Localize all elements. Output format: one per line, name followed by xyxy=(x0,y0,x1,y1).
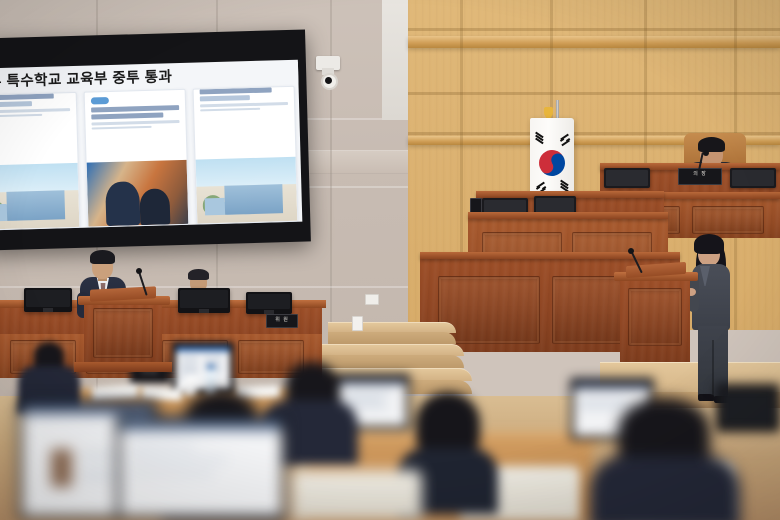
card-headline xyxy=(200,87,272,94)
news-card xyxy=(84,89,190,228)
card-thumbnail xyxy=(196,156,298,223)
desk-monitor xyxy=(24,288,72,312)
desk-monitor xyxy=(172,342,234,394)
chamber-photo: 남부 특수학교 교육부 중투 통과 xyxy=(0,0,780,520)
wall-switch-icon xyxy=(365,294,379,305)
attendee-seated xyxy=(590,398,740,520)
desk-monitor xyxy=(116,416,286,520)
official-hair-top xyxy=(694,234,724,254)
card-subline xyxy=(0,101,32,107)
taeguk-symbol xyxy=(534,145,570,181)
card-subline xyxy=(200,95,250,101)
left-podium xyxy=(84,300,162,366)
bottle-cap xyxy=(207,364,215,369)
microphone-head-icon xyxy=(703,150,709,156)
card-thumbnail xyxy=(87,160,189,227)
camera-lens-icon xyxy=(321,73,338,90)
card-subline xyxy=(91,112,163,119)
nameplate-text: 의 장 xyxy=(679,169,721,177)
card-thumbnail xyxy=(0,163,79,230)
staff-hair xyxy=(188,269,209,280)
desk-nameplate: 위 원 xyxy=(266,314,298,328)
slide-content: 남부 특수학교 교육부 중투 통과 xyxy=(0,60,302,231)
speaker-hair xyxy=(90,250,115,264)
official-trouser-seam xyxy=(712,340,714,398)
news-card xyxy=(0,92,80,231)
microphone-head-icon xyxy=(628,248,634,254)
desk-monitor xyxy=(246,292,292,314)
card-headline xyxy=(91,105,179,112)
card-badge xyxy=(91,97,109,104)
slide-title-text: 남부 특수학교 교육부 중투 통과 xyxy=(0,69,173,91)
dais-monitor xyxy=(604,168,650,188)
wall-outlet-icon xyxy=(352,316,363,331)
nameplate-text: 위 원 xyxy=(267,315,297,323)
right-lectern xyxy=(620,278,690,362)
chairman-nameplate: 의 장 xyxy=(678,168,722,185)
podium-base xyxy=(74,362,172,372)
desk-monitor xyxy=(178,288,230,313)
dais-monitor xyxy=(730,168,776,188)
news-card xyxy=(193,86,299,225)
projection-screen: 남부 특수학교 교육부 중투 통과 xyxy=(0,29,311,250)
news-card-row xyxy=(0,86,302,231)
card-headline xyxy=(0,94,54,101)
flag-finial-icon xyxy=(544,107,553,118)
microphone-head-icon xyxy=(136,268,142,274)
chairman-hair xyxy=(698,137,725,152)
chair-back-white xyxy=(292,470,422,520)
